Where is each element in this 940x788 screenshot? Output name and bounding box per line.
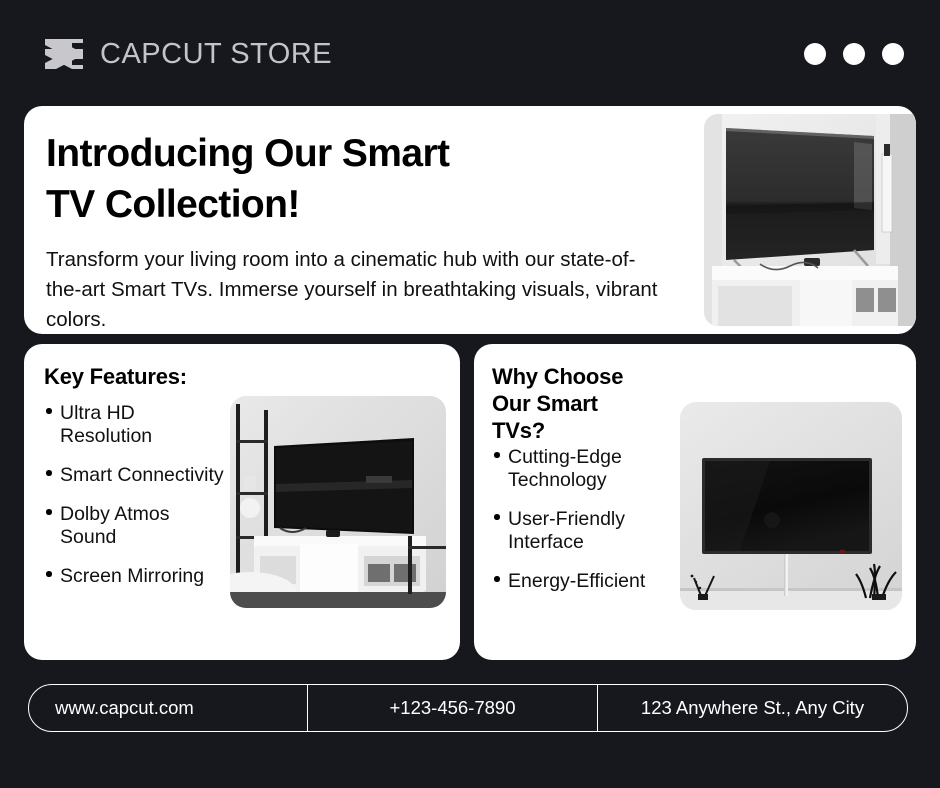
hero-tv-photo bbox=[704, 114, 916, 326]
key-features-heading: Key Features: bbox=[44, 364, 187, 391]
capcut-logo-icon bbox=[42, 34, 86, 74]
why-choose-heading-line-2: Our Smart bbox=[492, 391, 623, 418]
key-features-tv-photo bbox=[230, 396, 446, 608]
hero-title-line-1: Introducing Our Smart bbox=[46, 128, 664, 179]
list-item: Cutting-Edge Technology bbox=[492, 446, 678, 492]
key-features-list: Ultra HD Resolution Smart Connectivity D… bbox=[44, 402, 230, 604]
window-dot-3[interactable] bbox=[882, 43, 904, 65]
brand: CAPCUT STORE bbox=[42, 34, 332, 74]
why-choose-tv-photo bbox=[680, 402, 902, 610]
window-dot-1[interactable] bbox=[804, 43, 826, 65]
list-item: Dolby Atmos Sound bbox=[44, 503, 230, 549]
window-dots bbox=[804, 43, 904, 65]
why-choose-card: Why Choose Our Smart TVs? Cutting-Edge T… bbox=[474, 344, 916, 660]
why-choose-heading-line-3: TVs? bbox=[492, 418, 623, 445]
why-choose-heading: Why Choose Our Smart TVs? bbox=[492, 364, 623, 444]
footer-address: 123 Anywhere St., Any City bbox=[597, 685, 907, 731]
brand-name: CAPCUT STORE bbox=[100, 38, 332, 71]
why-choose-heading-line-1: Why Choose bbox=[492, 364, 623, 391]
footer-website[interactable]: www.capcut.com bbox=[29, 685, 307, 731]
window-dot-2[interactable] bbox=[843, 43, 865, 65]
list-item: Ultra HD Resolution bbox=[44, 402, 230, 448]
why-choose-list: Cutting-Edge Technology User-Friendly In… bbox=[492, 446, 678, 609]
list-item: Smart Connectivity bbox=[44, 464, 230, 487]
hero-title-line-2: TV Collection! bbox=[46, 179, 664, 230]
list-item: Screen Mirroring bbox=[44, 565, 230, 588]
page-header: CAPCUT STORE bbox=[0, 0, 940, 108]
hero-text-block: Introducing Our Smart TV Collection! Tra… bbox=[24, 106, 664, 334]
list-item: Energy-Efficient bbox=[492, 570, 678, 593]
key-features-card: Key Features: Ultra HD Resolution Smart … bbox=[24, 344, 460, 660]
hero-title: Introducing Our Smart TV Collection! bbox=[46, 128, 664, 231]
footer-phone[interactable]: +123-456-7890 bbox=[307, 685, 597, 731]
hero-card: Introducing Our Smart TV Collection! Tra… bbox=[24, 106, 916, 334]
list-item: User-Friendly Interface bbox=[492, 508, 678, 554]
hero-body-text: Transform your living room into a cinema… bbox=[46, 245, 664, 334]
contact-footer: www.capcut.com +123-456-7890 123 Anywher… bbox=[28, 684, 908, 732]
